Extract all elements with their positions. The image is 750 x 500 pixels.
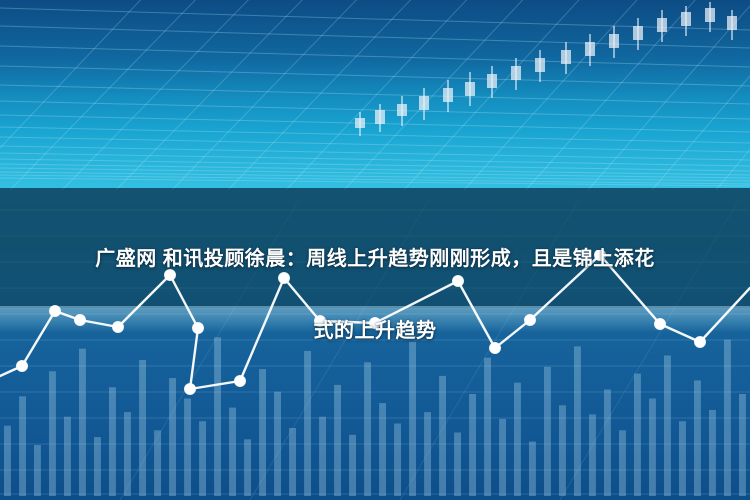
candle-body <box>443 88 453 102</box>
headline-line-2: 式的上升趋势 <box>0 313 750 349</box>
candle-body <box>633 26 643 40</box>
page-title: 广盛网 和讯投顾徐晨：周线上升趋势刚刚形成，且是锦上添花 式的上升趋势 <box>0 205 750 385</box>
banner-image: 广盛网 和讯投顾徐晨：周线上升趋势刚刚形成，且是锦上添花 式的上升趋势 <box>0 0 750 500</box>
candle-body <box>561 50 571 64</box>
candle-body <box>465 82 475 96</box>
candle-body <box>657 18 667 32</box>
trend-line-marker <box>185 384 196 395</box>
candle-body <box>585 42 595 56</box>
candle-body <box>727 16 737 30</box>
headline-line-1: 广盛网 和讯投顾徐晨：周线上升趋势刚刚形成，且是锦上添花 <box>0 241 750 277</box>
candle-body <box>419 96 429 110</box>
candle-body <box>705 8 715 22</box>
candle-body <box>355 118 365 128</box>
candle-body <box>375 110 385 124</box>
candle-body <box>397 104 407 116</box>
candle-body <box>535 58 545 72</box>
candle-body <box>609 34 619 48</box>
candle-body <box>487 74 497 88</box>
candle-body <box>511 66 521 80</box>
candle-body <box>681 12 691 26</box>
